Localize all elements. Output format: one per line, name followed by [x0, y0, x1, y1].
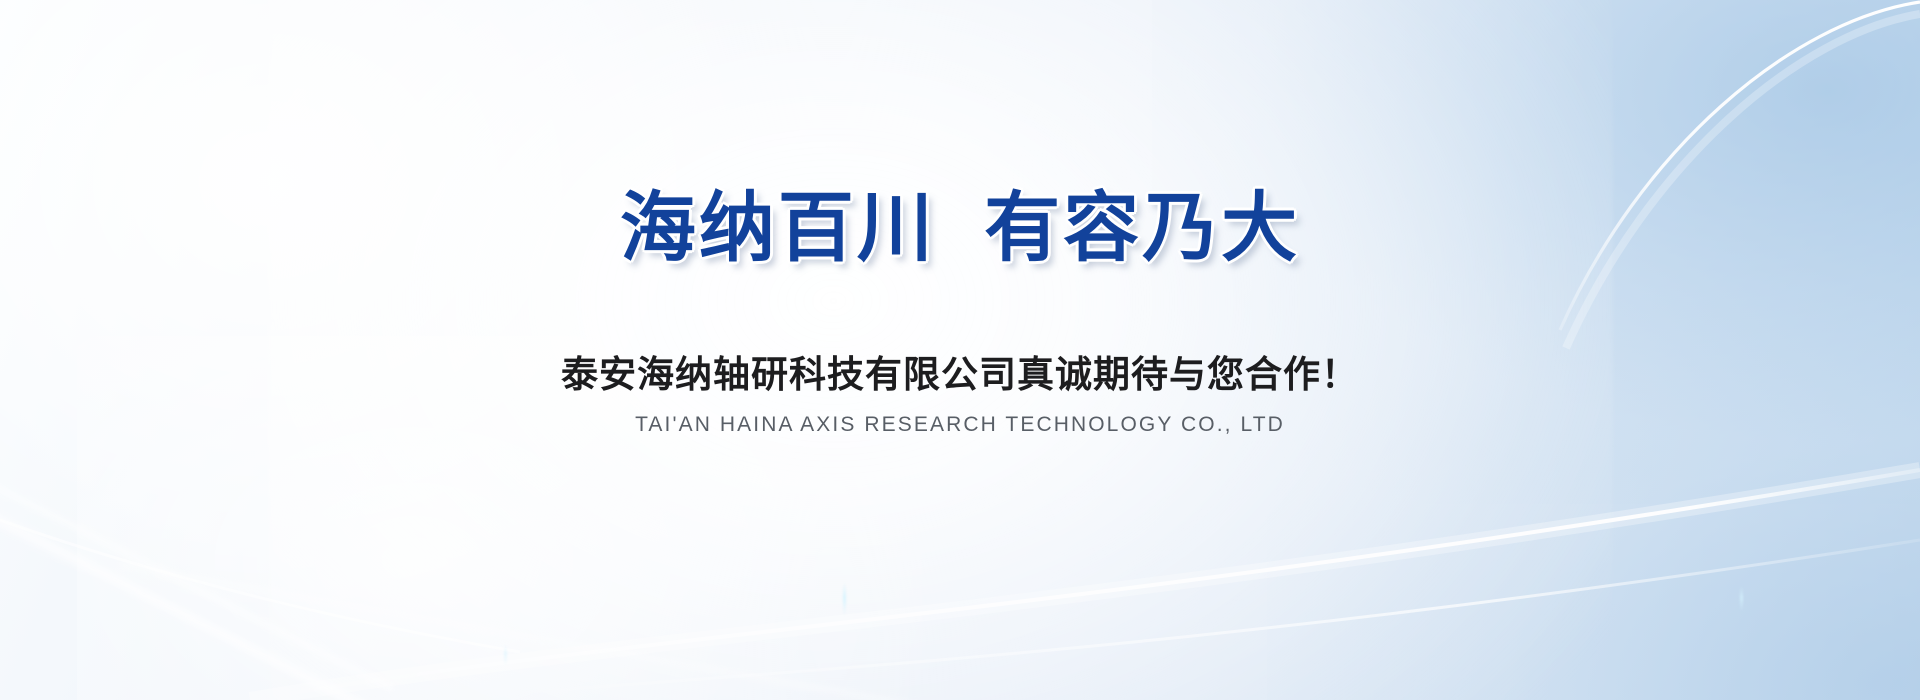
banner-headline: 海纳百川 有容乃大	[620, 188, 1300, 270]
hero-banner: 海纳百川 有容乃大 泰安海纳轴研科技有限公司真诚期待与您合作！ TAI'AN H…	[0, 0, 1920, 700]
banner-subtitle-chinese: 泰安海纳轴研科技有限公司真诚期待与您合作！	[561, 344, 1359, 398]
banner-content: 海纳百川 有容乃大 泰安海纳轴研科技有限公司真诚期待与您合作！ TAI'AN H…	[0, 0, 1920, 700]
banner-subtitle-english: TAI'AN HAINA AXIS RESEARCH TECHNOLOGY CO…	[635, 413, 1285, 437]
